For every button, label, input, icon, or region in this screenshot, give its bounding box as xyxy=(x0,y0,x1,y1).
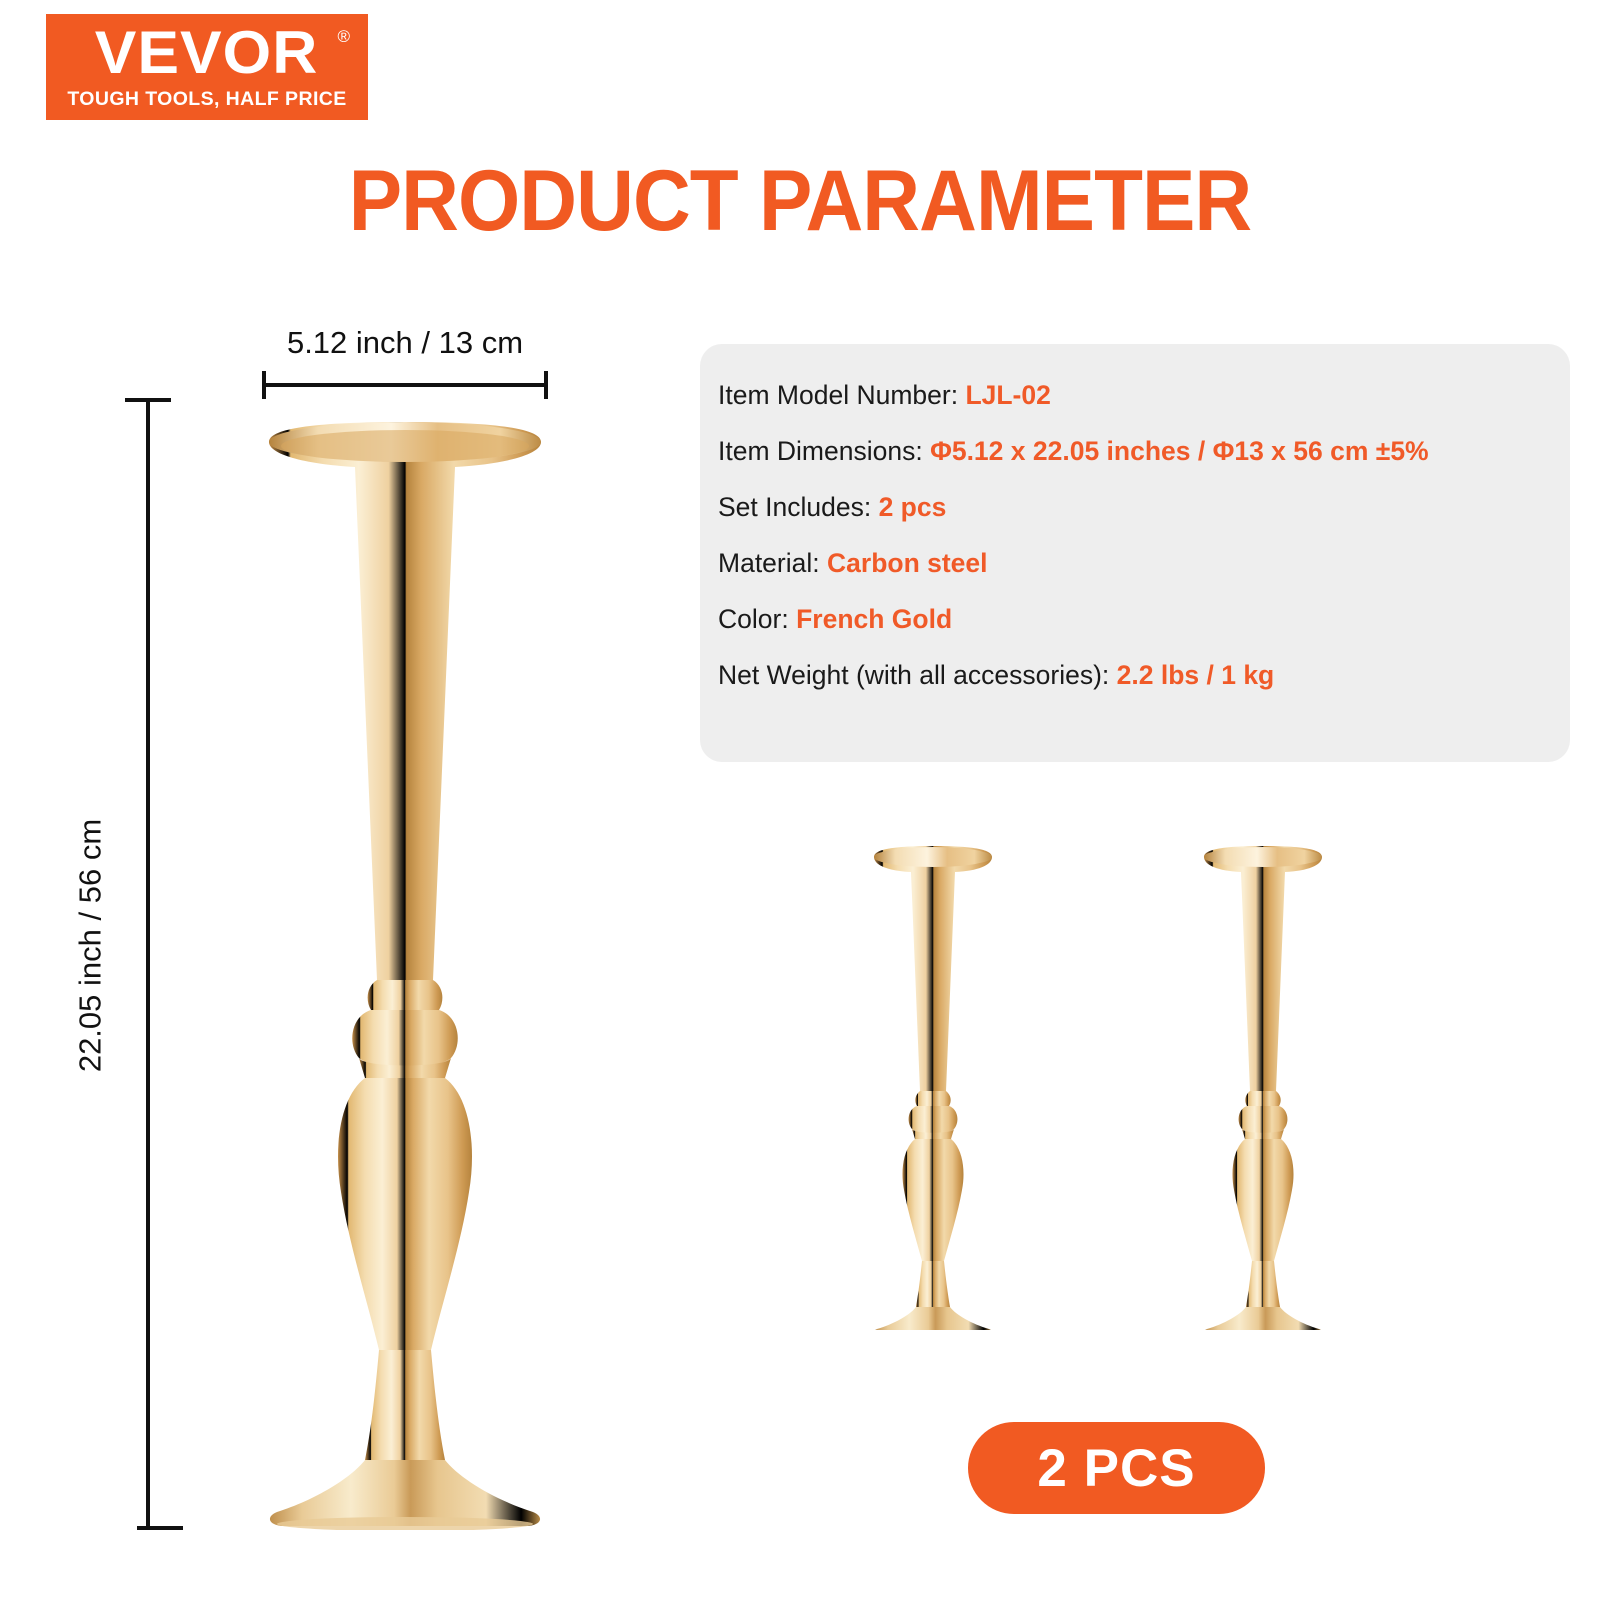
registered-trademark-icon: ® xyxy=(337,28,350,45)
vase-cone xyxy=(269,422,541,980)
height-dimension-cap-top xyxy=(125,398,171,402)
spec-value: 2 pcs xyxy=(879,492,947,522)
height-dimension-cap-bottom xyxy=(137,1526,183,1530)
vase-bulb-main xyxy=(338,1078,472,1350)
width-dimension-line xyxy=(262,383,548,387)
vevor-logo: VEVOR ® TOUGH TOOLS, HALF PRICE xyxy=(46,14,368,120)
width-dimension-cap-left xyxy=(262,371,266,399)
vase-bulb-main xyxy=(902,1139,963,1261)
spec-label: Net Weight (with all accessories): xyxy=(718,660,1109,690)
vase-bulb-main xyxy=(1232,1139,1293,1261)
width-dimension-label: 5.12 inch / 13 cm xyxy=(245,327,565,358)
height-dimension-line xyxy=(146,398,150,1530)
vase-stem xyxy=(1246,1261,1280,1307)
vase-cone xyxy=(1204,846,1322,1091)
vase-neck-collar xyxy=(368,980,443,1010)
product-image-small-vase-1 xyxy=(868,845,998,1330)
width-dimension-cap-right xyxy=(544,371,548,399)
vase-rim xyxy=(1204,847,1322,867)
spec-label: Set Includes: xyxy=(718,492,871,522)
vase-neck-collar xyxy=(1245,1091,1280,1106)
spec-label: Material: xyxy=(718,548,820,578)
spec-row: Item Dimensions: Φ5.12 x 22.05 inches / … xyxy=(718,438,1429,465)
spec-row: Net Weight (with all accessories): 2.2 l… xyxy=(718,662,1274,689)
vase-foot xyxy=(270,1460,540,1526)
vase-rim xyxy=(874,847,992,867)
spec-value: Carbon steel xyxy=(827,548,988,578)
vase-bulb-upper xyxy=(1239,1106,1288,1134)
spec-value: French Gold xyxy=(796,604,952,634)
product-image-main-vase xyxy=(255,420,555,1530)
vase-bulb-upper xyxy=(352,1010,458,1067)
spec-row: Color: French Gold xyxy=(718,606,952,633)
product-image-small-vase-2 xyxy=(1198,845,1328,1330)
spec-row: Item Model Number: LJL-02 xyxy=(718,382,1051,409)
spec-value: LJL-02 xyxy=(965,380,1050,410)
vase-neck-collar xyxy=(915,1091,950,1106)
brand-wordmark: VEVOR xyxy=(95,24,319,81)
spec-panel: Item Model Number: LJL-02Item Dimensions… xyxy=(700,344,1570,762)
spec-label: Color: xyxy=(718,604,789,634)
spec-row: Set Includes: 2 pcs xyxy=(718,494,946,521)
vase-foot xyxy=(874,1307,992,1330)
pcs-count-badge: 2 PCS xyxy=(968,1422,1265,1514)
spec-value: Φ5.12 x 22.05 inches / Φ13 x 56 cm ±5% xyxy=(930,436,1429,466)
vase-stem xyxy=(365,1350,445,1460)
vase-rim-inner xyxy=(281,430,529,462)
page-title: PRODUCT PARAMETER xyxy=(56,158,1544,244)
spec-row: Material: Carbon steel xyxy=(718,550,988,577)
vase-foot xyxy=(1204,1307,1322,1330)
spec-label: Item Dimensions: xyxy=(718,436,923,466)
vase-bulb-upper xyxy=(909,1106,958,1134)
brand-tagline: TOUGH TOOLS, HALF PRICE xyxy=(67,88,346,111)
spec-value: 2.2 lbs / 1 kg xyxy=(1117,660,1275,690)
vase-stem xyxy=(916,1261,950,1307)
vase-cone xyxy=(874,846,992,1091)
height-dimension-label: 22.05 inch / 56 cm xyxy=(75,796,106,1096)
spec-label: Item Model Number: xyxy=(718,380,958,410)
